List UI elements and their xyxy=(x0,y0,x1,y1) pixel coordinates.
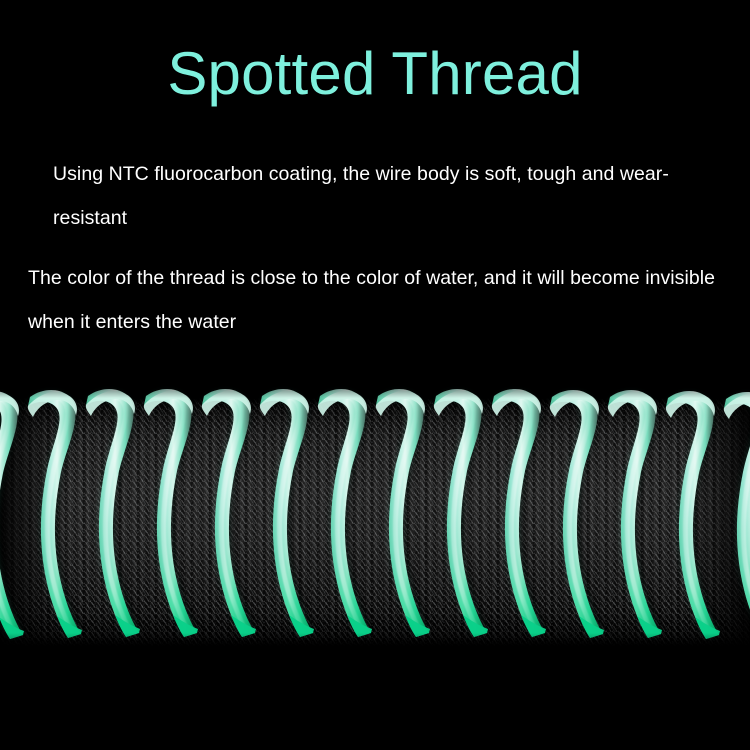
coil-group xyxy=(0,389,750,640)
thread-coils xyxy=(0,372,750,662)
description-paragraph-1: Using NTC fluorocarbon coating, the wire… xyxy=(0,152,750,240)
product-detail-page: Spotted Thread Using NTC fluorocarbon co… xyxy=(0,0,750,750)
product-photo xyxy=(0,372,750,662)
description-paragraph-2: The color of the thread is close to the … xyxy=(0,256,750,344)
description-block: Using NTC fluorocarbon coating, the wire… xyxy=(0,152,750,344)
page-title: Spotted Thread xyxy=(0,40,750,108)
